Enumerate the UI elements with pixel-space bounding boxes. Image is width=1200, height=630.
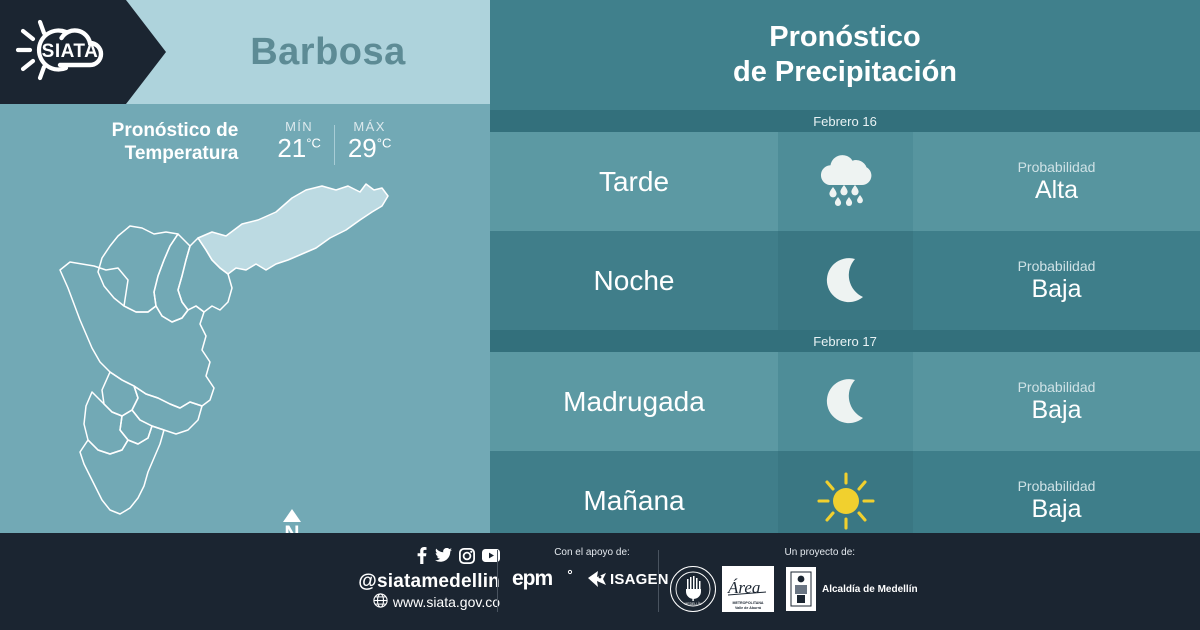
forecast-row: TardeProbabilidadAlta xyxy=(490,132,1200,231)
map-region-envigado xyxy=(132,386,202,434)
forecast-title-line2: de Precipitación xyxy=(733,55,957,90)
probability-label: Probabilidad xyxy=(1018,159,1096,175)
website-url[interactable]: www.siata.gov.co xyxy=(393,594,500,610)
moon-icon xyxy=(778,231,913,330)
probability-label: Probabilidad xyxy=(1018,478,1096,494)
forecast-row: MadrugadaProbabilidadBaja xyxy=(490,352,1200,451)
support-logos: epm ISAGEN xyxy=(512,566,672,595)
rain-cloud-icon xyxy=(778,132,913,231)
svg-text:epm: epm xyxy=(512,567,553,590)
medellin-seal-block: . MEDELLÍN xyxy=(670,547,716,612)
forecast-period: Madrugada xyxy=(490,352,778,451)
project-logos: Área METROPOLITANA Valle de Aburrá xyxy=(722,566,918,612)
footer: @siatamedellin www.siata.gov.co Con el a… xyxy=(0,533,1200,630)
project-block: Un proyecto de: Área METROPOLITANA Valle… xyxy=(722,547,918,612)
forecast-title-line1: Pronóstico xyxy=(769,20,920,55)
probability-value: Alta xyxy=(1035,176,1078,205)
medellin-seal-icon: MEDELLÍN xyxy=(670,566,716,612)
moon-icon xyxy=(778,352,913,451)
area-metropolitana-logo: Área METROPOLITANA Valle de Aburrá xyxy=(722,566,774,612)
sun-cloud-icon: SIATA xyxy=(14,19,130,86)
map-region-caldas xyxy=(80,426,164,514)
forecast-date-bar: Febrero 17 xyxy=(490,330,1200,352)
svg-text:SIATA: SIATA xyxy=(42,41,99,62)
forecast-probability: ProbabilidadAlta xyxy=(913,132,1200,231)
area-sub-line2: Valle de Aburrá xyxy=(735,606,761,610)
alcaldia-name: Alcaldía de Medellín xyxy=(822,584,918,595)
svg-text:MEDELLÍN: MEDELLÍN xyxy=(685,602,703,606)
alcaldia-crest-icon xyxy=(786,567,816,611)
map-svg xyxy=(30,176,430,533)
social-handle[interactable]: @siatamedellin xyxy=(358,571,500,593)
temperature-values: MÍN 21°C MÁX 29°C xyxy=(264,119,404,165)
forecast-date-bar: Febrero 16 xyxy=(490,110,1200,132)
support-block: Con el apoyo de: epm ISAGEN xyxy=(512,547,672,595)
forecast-row: NocheProbabilidadBaja xyxy=(490,231,1200,330)
temperature-min-value: 21°C xyxy=(277,135,321,161)
forecast-title: Pronóstico de Precipitación xyxy=(490,0,1200,110)
probability-value: Baja xyxy=(1031,275,1081,304)
forecast-period: Noche xyxy=(490,231,778,330)
probability-label: Probabilidad xyxy=(1018,379,1096,395)
temperature-max-value: 29°C xyxy=(348,135,392,161)
temperature-map-panel: SIATA Barbosa Pronóstico de Temperatura … xyxy=(0,0,490,533)
alcaldia-logo-group: Alcaldía de Medellín xyxy=(786,567,918,611)
probability-label: Probabilidad xyxy=(1018,258,1096,274)
facebook-icon[interactable] xyxy=(415,547,428,569)
twitter-icon[interactable] xyxy=(435,548,452,568)
aburra-valley-map: N xyxy=(0,176,490,533)
temperature-summary: Pronóstico de Temperatura MÍN 21°C MÁX 2… xyxy=(0,104,490,180)
temperature-max-label: MÁX xyxy=(353,119,385,134)
probability-value: Baja xyxy=(1031,495,1081,524)
temperature-min-unit: °C xyxy=(306,135,321,150)
north-arrow-triangle xyxy=(283,509,301,522)
map-region-copacabana xyxy=(154,234,190,322)
social-icons xyxy=(415,547,500,569)
temperature-min: MÍN 21°C xyxy=(264,119,334,161)
project-caption: Un proyecto de: xyxy=(784,547,855,558)
forecast-probability: ProbabilidadBaja xyxy=(913,352,1200,451)
forecast-period: Tarde xyxy=(490,132,778,231)
probability-value: Baja xyxy=(1031,396,1081,425)
precipitation-panel: Pronóstico de Precipitación Febrero 16Ta… xyxy=(490,0,1200,533)
footer-divider-1 xyxy=(497,550,498,612)
map-region-barbosa xyxy=(198,184,388,274)
epm-logo: epm xyxy=(512,566,574,595)
area-metropolitana-subtitle: METROPOLITANA Valle de Aburrá xyxy=(732,601,763,612)
forecast-probability: ProbabilidadBaja xyxy=(913,231,1200,330)
support-caption: Con el apoyo de: xyxy=(554,547,630,558)
map-region-la-estrella xyxy=(84,392,128,454)
weather-forecast-poster: SIATA Barbosa Pronóstico de Temperatura … xyxy=(0,0,1200,630)
temperature-min-label: MÍN xyxy=(285,119,313,134)
city-name: Barbosa xyxy=(166,0,490,104)
footer-social-block: @siatamedellin www.siata.gov.co xyxy=(330,547,500,611)
temperature-max-unit: °C xyxy=(377,135,392,150)
map-region-medellin xyxy=(60,262,214,408)
temperature-title: Pronóstico de Temperatura xyxy=(112,119,239,165)
forecast-table: Febrero 16TardeProbabilidadAltaNocheProb… xyxy=(490,110,1200,550)
isagen-logo: ISAGEN xyxy=(586,567,672,594)
temperature-max: MÁX 29°C xyxy=(335,119,405,161)
website-line[interactable]: www.siata.gov.co xyxy=(373,593,500,611)
svg-text:ISAGEN: ISAGEN xyxy=(610,571,669,588)
instagram-icon[interactable] xyxy=(459,548,475,569)
globe-icon xyxy=(373,593,388,611)
area-sub-line1: METROPOLITANA xyxy=(732,601,763,605)
footer-divider-2 xyxy=(658,550,659,612)
